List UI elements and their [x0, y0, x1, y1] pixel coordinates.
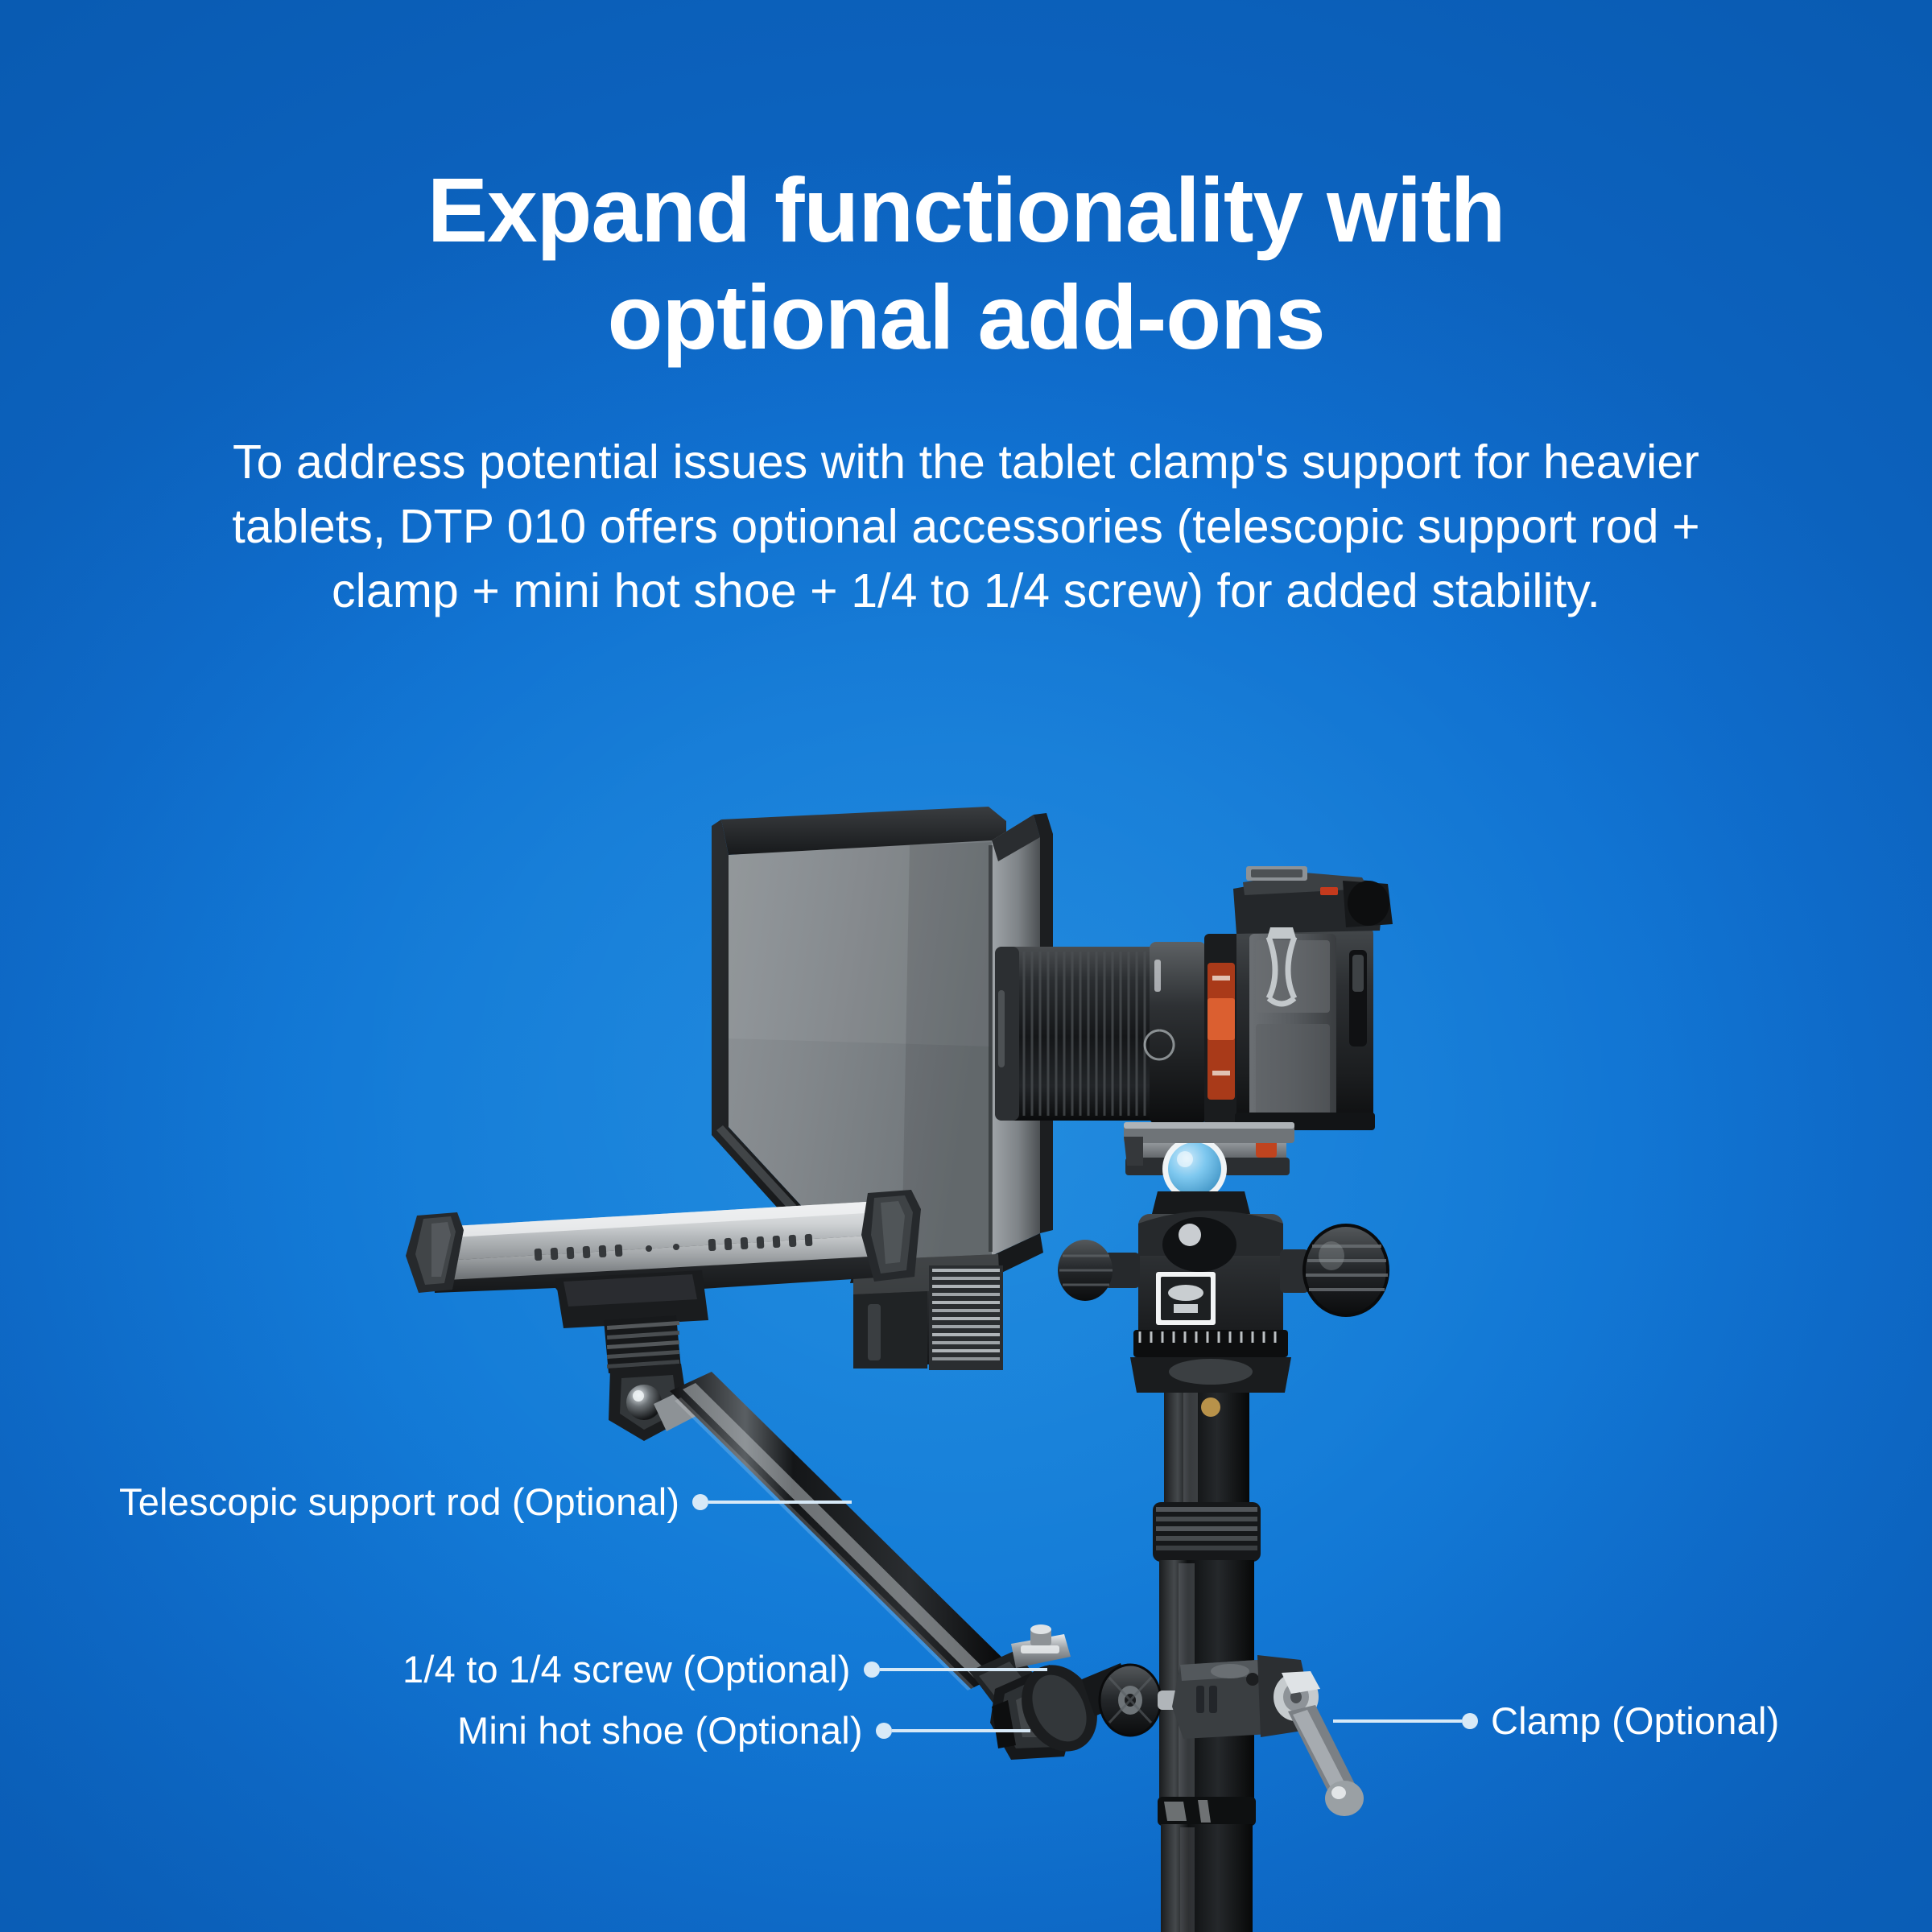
- callout-dot-icon: [692, 1494, 708, 1510]
- callout-leader-line: [892, 1729, 1030, 1732]
- callout-label-mini-hot-shoe: Mini hot shoe (Optional): [457, 1708, 863, 1752]
- callout-mini-hot-shoe: Mini hot shoe (Optional): [457, 1708, 1030, 1752]
- callout-leader-line: [880, 1668, 1047, 1671]
- callout-label-clamp: Clamp (Optional): [1491, 1699, 1779, 1743]
- callout-label-quarter-to-quarter-screw: 1/4 to 1/4 screw (Optional): [402, 1647, 851, 1691]
- callout-layer: Telescopic support rod (Optional) 1/4 to…: [0, 0, 1932, 1932]
- callout-leader-line: [1333, 1719, 1462, 1723]
- callout-label-telescopic-support-rod: Telescopic support rod (Optional): [119, 1480, 679, 1524]
- callout-quarter-to-quarter-screw: 1/4 to 1/4 screw (Optional): [402, 1647, 1047, 1691]
- callout-dot-icon: [1462, 1713, 1478, 1729]
- callout-dot-icon: [864, 1662, 880, 1678]
- callout-leader-line: [708, 1501, 852, 1504]
- callout-telescopic-support-rod: Telescopic support rod (Optional): [119, 1480, 852, 1524]
- callout-clamp: Clamp (Optional): [1333, 1699, 1779, 1743]
- callout-dot-icon: [876, 1723, 892, 1739]
